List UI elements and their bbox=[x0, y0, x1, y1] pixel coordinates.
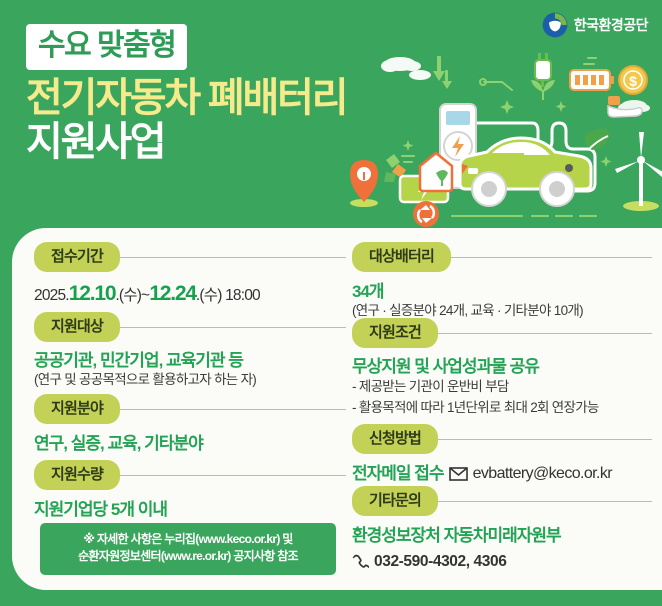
section-label-support-quantity: 지원수량 bbox=[34, 460, 120, 490]
content-card: 접수기간 2025.12.10.(수)~12.24.(수) 18:00 지원대상… bbox=[12, 228, 662, 590]
keco-circle-logo-icon bbox=[542, 12, 568, 38]
eligible-targets-value: 공공기관, 민간기업, 교육기관 등 bbox=[34, 350, 346, 371]
coin-dollar-icon: $ bbox=[619, 66, 647, 94]
svg-text:$: $ bbox=[629, 73, 637, 89]
section-label-support-conditions: 지원조건 bbox=[352, 318, 438, 348]
section-rule bbox=[114, 327, 346, 328]
section-rule bbox=[445, 257, 652, 258]
section-support-quantity: 지원수량 지원기업당 5개 이내 bbox=[34, 460, 346, 520]
section-header: 지원조건 bbox=[352, 318, 652, 348]
date-mid: .(수)~ bbox=[115, 287, 149, 304]
support-conditions-bullet-2: - 활용목적에 따라 1년단위로 최대 2회 연장가능 bbox=[352, 398, 652, 418]
support-conditions-value: 무상지원 및 사업성과물 공유 bbox=[352, 356, 652, 377]
application-method-value: 전자메일 접수 evbattery@keco.or.kr bbox=[352, 463, 652, 484]
date-start: 12.10 bbox=[69, 282, 116, 305]
section-label-application-period: 접수기간 bbox=[34, 242, 120, 272]
poster-root: 한국환경공단 수요 맞춤형 전기자동차 폐배터리 지원사업 bbox=[0, 0, 662, 606]
section-label-support-fields: 지원분야 bbox=[34, 394, 120, 424]
section-rule bbox=[114, 475, 346, 476]
support-fields-value: 연구, 실증, 교육, 기타분야 bbox=[34, 433, 346, 454]
section-header: 접수기간 bbox=[34, 242, 346, 272]
application-method-text: 전자메일 접수 bbox=[352, 463, 444, 484]
section-rule bbox=[114, 257, 346, 258]
organization-name: 한국환경공단 bbox=[574, 15, 648, 35]
section-eligible-targets: 지원대상 공공기관, 민간기업, 교육기관 등 (연구 및 공공목적으로 활용하… bbox=[34, 312, 346, 389]
date-prefix: 2025. bbox=[34, 287, 69, 304]
down-arrow-icon bbox=[433, 56, 445, 81]
section-application-period: 접수기간 2025.12.10.(수)~12.24.(수) 18:00 bbox=[34, 242, 346, 306]
notice-line-1: ※ 자세한 사항은 누리집(www.keco.or.kr) 및 bbox=[50, 531, 326, 548]
target-batteries-count: 34개 bbox=[352, 281, 652, 302]
section-other-inquiries: 기타문의 환경성보장처 자동차미래자원부 032-590-4302, 4306 bbox=[352, 486, 652, 571]
section-label-application-method: 신청방법 bbox=[352, 424, 438, 454]
support-conditions-bullet-1: - 제공받는 기관이 운반비 부담 bbox=[352, 377, 652, 397]
envelope-icon bbox=[449, 467, 468, 481]
inquiry-phone[interactable]: 032-590-4302, 4306 bbox=[374, 553, 506, 571]
section-support-fields: 지원분야 연구, 실증, 교육, 기타분야 bbox=[34, 394, 346, 454]
inquiry-department: 환경성보장처 자동차미래자원부 bbox=[352, 525, 652, 546]
section-header: 지원대상 bbox=[34, 312, 346, 342]
recycle-arrows-icon bbox=[413, 201, 439, 227]
section-label-other-inquiries: 기타문의 bbox=[352, 486, 438, 516]
section-rule bbox=[432, 501, 652, 502]
ev-battery-illustration: $ bbox=[342, 48, 662, 228]
section-rule bbox=[432, 439, 652, 440]
section-label-eligible-targets: 지원대상 bbox=[34, 312, 120, 342]
location-pin-icon bbox=[350, 160, 378, 207]
section-support-conditions: 지원조건 무상지원 및 사업성과물 공유 - 제공받는 기관이 운반비 부담 -… bbox=[352, 318, 652, 418]
section-rule bbox=[432, 333, 652, 334]
leaf-icon bbox=[585, 128, 610, 150]
application-period-value: 2025.12.10.(수)~12.24.(수) 18:00 bbox=[34, 281, 346, 306]
eligible-targets-note: (연구 및 공공목적으로 활용하고자 하는 자) bbox=[34, 371, 346, 389]
date-end: 12.24 bbox=[149, 282, 196, 305]
notice-line-2: 순환자원정보센터(www.re.or.kr) 공지사항 참조 bbox=[50, 548, 326, 565]
section-label-target-batteries: 대상배터리 bbox=[352, 242, 451, 272]
section-header: 지원수량 bbox=[34, 460, 346, 490]
date-suffix: .(수) 18:00 bbox=[196, 287, 260, 304]
section-target-batteries: 대상배터리 34개 (연구 · 실증분야 24개, 교육 · 기타분야 10개) bbox=[352, 242, 652, 320]
application-email[interactable]: evbattery@keco.or.kr bbox=[473, 465, 612, 483]
support-quantity-value: 지원기업당 5개 이내 bbox=[34, 499, 346, 520]
battery-icon bbox=[570, 70, 614, 90]
section-header: 지원분야 bbox=[34, 394, 346, 424]
wind-turbine-icon bbox=[615, 132, 662, 211]
phone-icon bbox=[352, 554, 369, 570]
cloud-icon bbox=[381, 57, 431, 80]
section-rule bbox=[114, 409, 346, 410]
section-header: 대상배터리 bbox=[352, 242, 652, 272]
poster-header: 한국환경공단 수요 맞춤형 전기자동차 폐배터리 지원사업 bbox=[0, 0, 662, 228]
organization-logo: 한국환경공단 bbox=[542, 12, 648, 38]
eyebrow-badge: 수요 맞춤형 bbox=[26, 24, 187, 70]
section-application-method: 신청방법 전자메일 접수 evbattery@keco.or.kr bbox=[352, 424, 652, 484]
section-header: 기타문의 bbox=[352, 486, 652, 516]
notice-box: ※ 자세한 사항은 누리집(www.keco.or.kr) 및 순환자원정보센터… bbox=[40, 523, 336, 575]
section-header: 신청방법 bbox=[352, 424, 652, 454]
inquiry-phone-row: 032-590-4302, 4306 bbox=[352, 553, 652, 571]
